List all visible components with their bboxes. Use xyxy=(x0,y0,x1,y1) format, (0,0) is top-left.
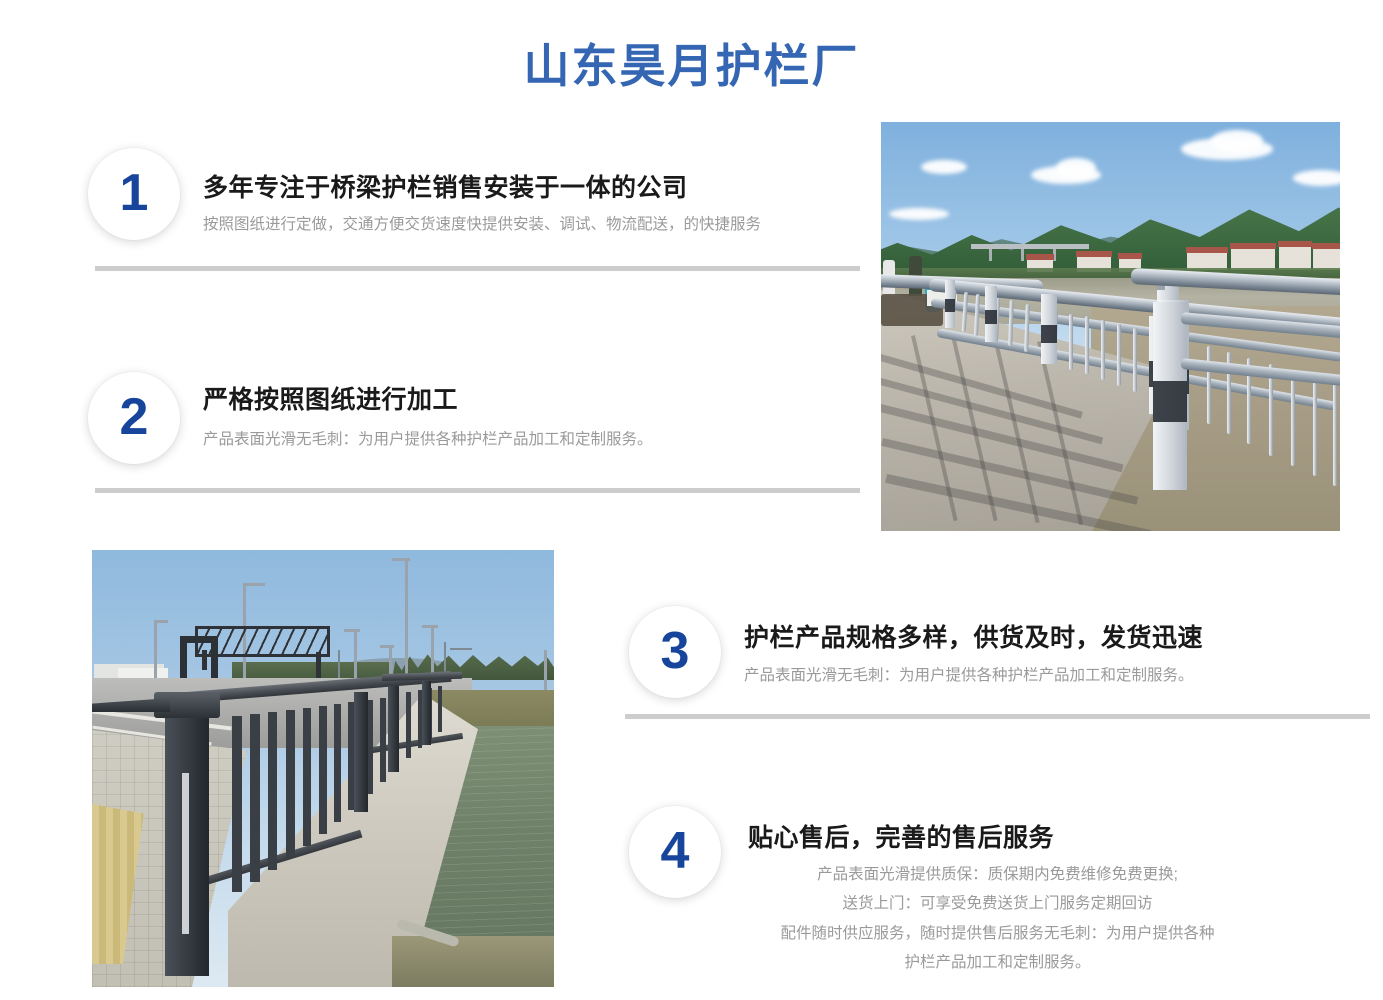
street-lamp-arm xyxy=(154,620,168,623)
post-black-band xyxy=(945,299,955,311)
feature-number-badge-1: 1 xyxy=(88,148,180,240)
railing-baluster xyxy=(1133,328,1137,392)
feature-number-3: 3 xyxy=(661,625,690,677)
railing-post xyxy=(1041,294,1057,364)
feature-number-badge-2: 2 xyxy=(88,372,180,464)
railing-baluster xyxy=(1085,316,1089,374)
feature-number-badge-3: 3 xyxy=(629,606,721,698)
feature-number-1: 1 xyxy=(120,167,149,219)
post-black-band xyxy=(1041,325,1057,343)
railing-baluster xyxy=(380,698,386,782)
railing-end-pillar xyxy=(165,716,209,976)
photo-dark-gray-bridge-railing xyxy=(92,550,554,987)
railing-baluster xyxy=(303,708,311,846)
railing-pillar xyxy=(354,692,368,812)
street-lamp-arm xyxy=(243,583,265,586)
railing-post xyxy=(945,280,955,328)
feature-description-4: 产品表面光滑提供质保：质保期内免费维修免费更换; 送货上门：可享受免费送货上门服… xyxy=(625,860,1370,978)
feature-description-4-line-3: 配件随时供应服务，随时提供售后服务无毛刺：为用户提供各种 xyxy=(625,919,1370,948)
railing-baluster xyxy=(334,704,341,822)
feature-title-2: 严格按照图纸进行加工 xyxy=(203,380,458,416)
power-pylon xyxy=(450,648,472,650)
railing-baluster xyxy=(232,716,242,892)
feature-divider-3 xyxy=(625,714,1370,719)
street-lamp-pole xyxy=(405,558,408,688)
railing-baluster xyxy=(406,692,411,758)
street-lamp-arm xyxy=(392,558,410,561)
feature-description-4-line-4: 护栏产品加工和定制服务。 xyxy=(625,948,1370,977)
railing-pillar xyxy=(388,686,399,772)
railing-baluster xyxy=(1101,320,1105,380)
feature-description-1: 按照图纸进行定做，交通方便交货速度快提供安装、调试、物流配送，的快捷服务 xyxy=(203,210,761,239)
railing-baluster xyxy=(250,714,260,882)
feature-description-4-line-2: 送货上门：可享受免费送货上门服务定期回访 xyxy=(625,889,1370,918)
railing-post xyxy=(985,286,997,342)
feature-number-2: 2 xyxy=(120,391,149,443)
promo-page: 山东昊月护栏厂 1 多年专注于桥梁护栏销售安装于一体的公司 按照图纸进行定做，交… xyxy=(0,0,1383,1000)
riverbank-rocks xyxy=(392,936,554,987)
pillar-light-strip xyxy=(182,773,189,934)
feature-divider-2 xyxy=(95,488,860,493)
railing-post-main xyxy=(1153,302,1187,490)
house xyxy=(1279,246,1311,270)
feature-description-4-line-1: 产品表面光滑提供质保：质保期内免费维修免费更换; xyxy=(625,860,1370,889)
railing-baluster xyxy=(268,712,277,870)
feature-description-2: 产品表面光滑无毛刺：为用户提供各种护栏产品加工和定制服务。 xyxy=(203,425,653,454)
railing-baluster xyxy=(1117,324,1121,386)
street-lamp-arm xyxy=(422,625,438,628)
railing-baluster xyxy=(1313,376,1317,476)
feature-title-1: 多年专注于桥梁护栏销售安装于一体的公司 xyxy=(203,168,688,204)
railing-baluster xyxy=(286,710,295,858)
feature-title-4: 贴心售后，完善的售后服务 xyxy=(748,818,1054,854)
photo-stainless-steel-bridge-railing xyxy=(881,122,1340,531)
house xyxy=(1313,248,1340,270)
house xyxy=(1231,248,1275,270)
railing-baluster xyxy=(319,706,327,834)
railing-baluster xyxy=(1291,370,1295,466)
feature-title-3: 护栏产品规格多样，供货及时，发货迅速 xyxy=(744,618,1203,654)
railing-baluster xyxy=(1069,314,1073,370)
power-pylon xyxy=(338,650,340,680)
feature-divider-1 xyxy=(95,266,860,271)
railing-baluster xyxy=(1207,346,1211,424)
post-black-band xyxy=(985,310,997,325)
street-lamp-arm xyxy=(380,645,394,648)
post-black-band xyxy=(1153,381,1187,422)
street-lamp-arm xyxy=(344,629,360,632)
railing-pillar xyxy=(422,681,431,745)
page-title: 山东昊月护栏厂 xyxy=(0,30,1383,96)
feature-description-3: 产品表面光滑无毛刺：为用户提供各种护栏产品加工和定制服务。 xyxy=(744,661,1194,690)
railing-baluster xyxy=(438,686,442,732)
railing-baluster xyxy=(1333,382,1337,486)
